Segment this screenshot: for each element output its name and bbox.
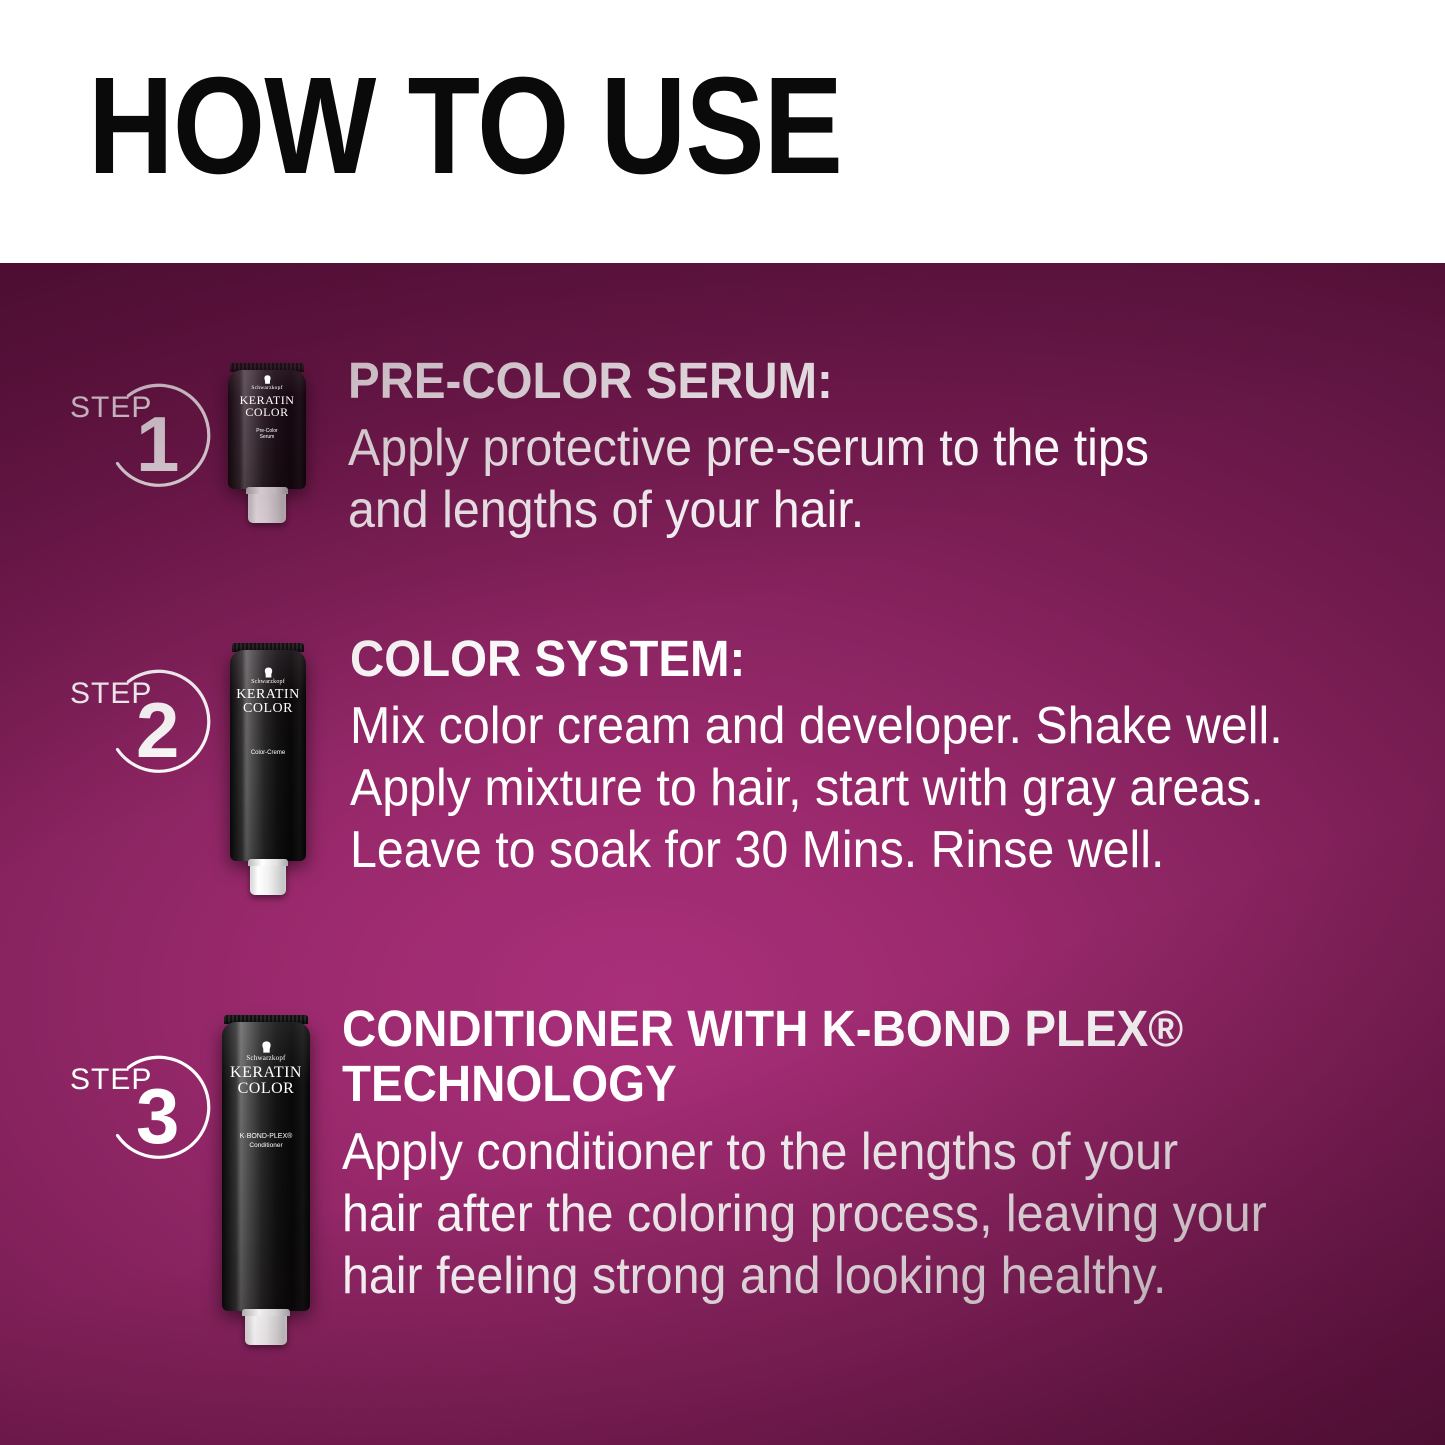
step-body-3: Apply conditioner to the lengths of your… <box>342 1121 1267 1307</box>
step-body-line: hair after the coloring process, leaving… <box>342 1183 1267 1245</box>
step-copy-2: COLOR SYSTEM: Mix color cream and develo… <box>350 631 1353 881</box>
tube-body-1 <box>228 370 306 489</box>
product-tube-1: Schwarzkopf KERATIN COLOR Pre-Color Seru… <box>228 363 306 523</box>
tube-cap-3 <box>245 1309 287 1345</box>
step-body-line: and lengths of your hair. <box>348 479 1149 541</box>
steps-panel: STEP 1 Schwarzkopf KERATIN COLOR Pre-Col… <box>0 263 1445 1445</box>
step-body-line: hair feeling strong and looking healthy. <box>342 1245 1267 1307</box>
step-copy-1: PRE-COLOR SERUM: Apply protective pre-se… <box>348 353 1209 541</box>
step-body-line: Mix color cream and developer. Shake wel… <box>350 695 1283 757</box>
step-heading-3: CONDITIONER WITH K-BOND PLEX® TECHNOLOGY <box>342 1001 1267 1111</box>
step-body-2: Mix color cream and developer. Shake wel… <box>350 695 1283 881</box>
step-badge-2: STEP 2 <box>70 657 202 789</box>
step-number-1: 1 <box>136 405 179 483</box>
step-body-line: Apply mixture to hair, start with gray a… <box>350 757 1283 819</box>
step-body-line: Leave to soak for 30 Mins. Rinse well. <box>350 819 1283 881</box>
step-heading-1: PRE-COLOR SERUM: <box>348 353 1149 409</box>
tube-cap-1 <box>248 487 285 523</box>
step-heading-line: COLOR SYSTEM: <box>350 631 1283 687</box>
step-body-line: Apply conditioner to the lengths of your <box>342 1121 1267 1183</box>
step-copy-3: CONDITIONER WITH K-BOND PLEX® TECHNOLOGY… <box>342 1001 1336 1307</box>
step-badge-1: STEP 1 <box>70 371 202 503</box>
step-heading-line: PRE-COLOR SERUM: <box>348 353 1149 409</box>
page-title: HOW TO USE <box>88 56 842 196</box>
step-heading-line: TECHNOLOGY <box>342 1056 1267 1111</box>
step-heading-line: CONDITIONER WITH K-BOND PLEX® <box>342 1001 1267 1056</box>
header-band: HOW TO USE <box>0 0 1445 263</box>
how-to-use-infographic: HOW TO USE STEP 1 <box>0 0 1445 1445</box>
tube-body-2 <box>230 650 306 861</box>
step-body-line: Apply protective pre-serum to the tips <box>348 417 1149 479</box>
product-tube-2: Schwarzkopf KERATIN COLOR Color-Creme <box>230 643 306 895</box>
step-row-3: STEP 3 Schwarzkopf KERATIN COLOR K·BOND-… <box>70 1011 1336 1345</box>
step-row-2: STEP 2 Schwarzkopf KERATIN COLOR Color-C… <box>70 635 1353 895</box>
step-number-3: 3 <box>136 1077 179 1155</box>
step-number-2: 2 <box>136 691 179 769</box>
step-row-1: STEP 1 Schwarzkopf KERATIN COLOR Pre-Col… <box>70 363 1209 541</box>
step-body-1: Apply protective pre-serum to the tips a… <box>348 417 1149 541</box>
step-badge-3: STEP 3 <box>70 1043 202 1175</box>
step-heading-2: COLOR SYSTEM: <box>350 631 1283 687</box>
tube-body-3 <box>222 1022 310 1311</box>
product-tube-3: Schwarzkopf KERATIN COLOR K·BOND-PLEX® C… <box>222 1015 310 1345</box>
tube-cap-2 <box>250 859 286 895</box>
